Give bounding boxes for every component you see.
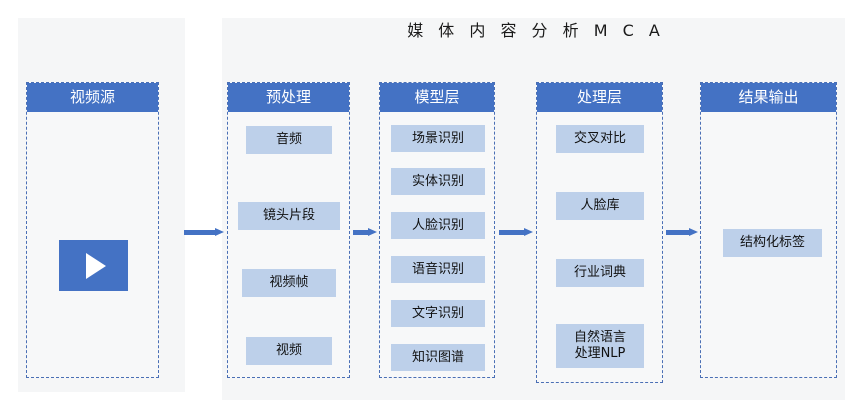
arrow-head-icon [524, 228, 533, 236]
chip-process-0[interactable]: 交叉对比 [556, 125, 644, 153]
arrow-model-to-process [499, 228, 533, 237]
arrow-shaft [499, 230, 524, 235]
chip-preprocess-2[interactable]: 视频帧 [242, 269, 336, 297]
column-header-model-layer: 模型层 [380, 83, 494, 112]
arrow-head-icon [689, 228, 698, 236]
column-body-processing-layer: 交叉对比 人脸库 行业词典 自然语言 处理NLP [537, 112, 662, 382]
arrow-shaft [353, 230, 368, 235]
chip-process-1[interactable]: 人脸库 [556, 192, 644, 220]
chip-model-2[interactable]: 人脸识别 [391, 212, 485, 239]
chip-process-3[interactable]: 自然语言 处理NLP [556, 324, 644, 368]
chip-preprocess-0[interactable]: 音频 [246, 126, 332, 154]
chip-model-5[interactable]: 知识图谱 [391, 344, 485, 371]
chip-model-4[interactable]: 文字识别 [391, 300, 485, 327]
play-icon [59, 240, 128, 291]
column-body-video-source [27, 112, 158, 377]
column-body-model-layer: 场景识别 实体识别 人脸识别 语音识别 文字识别 知识图谱 [380, 112, 494, 377]
chip-preprocess-1[interactable]: 镜头片段 [238, 202, 340, 230]
column-header-processing-layer: 处理层 [537, 83, 662, 112]
arrow-shaft [666, 230, 689, 235]
column-video-source: 视频源 [26, 82, 159, 378]
play-triangle-icon [86, 253, 106, 279]
arrow-process-to-output [666, 228, 698, 237]
chip-model-3[interactable]: 语音识别 [391, 256, 485, 283]
arrow-shaft [184, 230, 215, 235]
chip-preprocess-3[interactable]: 视频 [246, 337, 332, 365]
chip-model-0[interactable]: 场景识别 [391, 125, 485, 152]
column-header-preprocess: 预处理 [228, 83, 349, 112]
arrow-source-to-preprocess [184, 228, 224, 237]
arrow-head-icon [368, 228, 377, 236]
column-processing-layer: 处理层 交叉对比 人脸库 行业词典 自然语言 处理NLP [536, 82, 663, 383]
chip-model-1[interactable]: 实体识别 [391, 168, 485, 195]
column-result-output: 结果输出 结构化标签 [700, 82, 837, 378]
arrow-head-icon [215, 228, 224, 236]
chip-output-0[interactable]: 结构化标签 [723, 229, 822, 257]
column-preprocess: 预处理 音频 镜头片段 视频帧 视频 [227, 82, 350, 378]
column-body-preprocess: 音频 镜头片段 视频帧 视频 [228, 112, 349, 377]
chip-process-2[interactable]: 行业词典 [556, 259, 644, 287]
column-header-result-output: 结果输出 [701, 83, 836, 112]
arrow-preprocess-to-model [353, 228, 377, 237]
column-model-layer: 模型层 场景识别 实体识别 人脸识别 语音识别 文字识别 知识图谱 [379, 82, 495, 378]
column-body-result-output: 结构化标签 [701, 112, 836, 377]
column-header-video-source: 视频源 [27, 83, 158, 112]
diagram-title: 媒 体 内 容 分 析 M C A [222, 18, 845, 44]
